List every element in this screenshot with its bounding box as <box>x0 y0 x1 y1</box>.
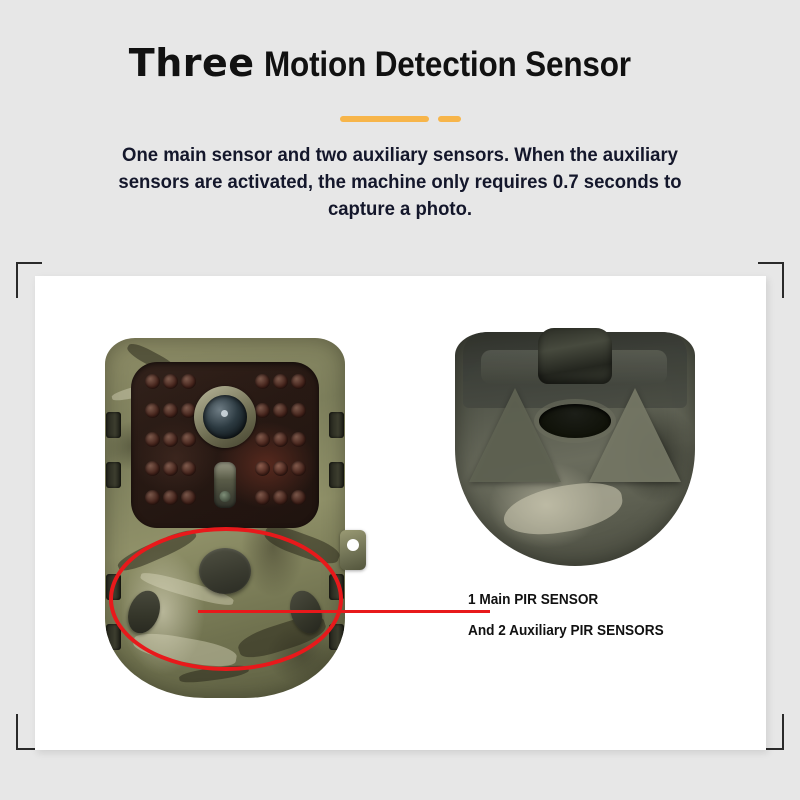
page-title-lead-word: Three <box>129 41 255 85</box>
side-latch <box>106 412 121 438</box>
ir-led-icon <box>255 403 270 418</box>
ir-led-icon <box>145 374 160 389</box>
callout-auxiliary-sensors: And 2 Auxiliary PIR SENSORS <box>468 623 676 639</box>
subtitle-line-2: sensors are activated, the machine only … <box>68 169 733 196</box>
side-latch <box>106 624 121 650</box>
infrared-led-array-right <box>251 370 309 520</box>
ir-led-icon <box>255 461 270 476</box>
ir-led-icon <box>291 490 306 505</box>
camera-body <box>105 338 345 698</box>
subtitle: One main sensor and two auxiliary sensor… <box>50 142 750 223</box>
camo-stroke <box>262 521 343 568</box>
ir-led-icon <box>181 490 196 505</box>
ir-led-icon <box>145 490 160 505</box>
divider-bar-long-icon <box>340 116 429 122</box>
camo-stroke <box>179 663 250 685</box>
camera-front-panel <box>131 362 319 528</box>
ir-led-icon <box>145 432 160 447</box>
callout-main-sensor-label: 1 Main PIR SENSOR <box>468 592 598 608</box>
lens-glass <box>203 395 247 439</box>
auxiliary-pir-sensor-left <box>122 586 165 638</box>
camera-product-image <box>95 334 360 704</box>
auxiliary-sensor-wedge-left <box>469 388 561 482</box>
camera-lens <box>194 386 256 448</box>
main-pir-sensor <box>199 548 251 594</box>
pir-sensor-closeup-image <box>425 306 725 596</box>
ir-led-icon <box>273 490 288 505</box>
infographic-slide: ThreeMotion Detection Sensor One main se… <box>0 0 800 800</box>
ir-led-icon <box>255 490 270 505</box>
ir-led-icon <box>181 432 196 447</box>
ir-led-icon <box>255 432 270 447</box>
ir-led-icon <box>273 461 288 476</box>
ir-led-icon <box>291 432 306 447</box>
ir-led-icon <box>273 432 288 447</box>
subtitle-line-3: capture a photo. <box>68 196 733 223</box>
side-latch <box>329 624 344 650</box>
callout-auxiliary-sensors-label: And 2 Auxiliary PIR SENSORS <box>468 623 664 639</box>
side-latch <box>329 412 344 438</box>
ir-led-icon <box>163 432 178 447</box>
camo-stroke <box>115 526 199 576</box>
ir-led-icon <box>163 403 178 418</box>
subtitle-line-1: One main sensor and two auxiliary sensor… <box>68 142 733 169</box>
main-pir-lens <box>539 404 611 438</box>
camo-stroke <box>132 629 239 671</box>
side-latch <box>329 462 344 488</box>
ir-led-icon <box>291 374 306 389</box>
ir-led-icon <box>181 461 196 476</box>
photo-panel <box>35 276 766 750</box>
side-latch <box>106 574 121 600</box>
ir-led-icon <box>255 374 270 389</box>
side-latch <box>106 462 121 488</box>
ir-led-icon <box>163 374 178 389</box>
sensor-dome <box>538 328 612 384</box>
ir-led-icon <box>291 461 306 476</box>
title-divider <box>0 116 800 122</box>
infrared-led-array-left <box>141 370 199 520</box>
red-pointer-line <box>198 610 490 613</box>
ir-led-icon <box>163 490 178 505</box>
auxiliary-sensor-wedge-right <box>589 388 681 482</box>
camo-leaf-pattern <box>500 478 625 540</box>
callout-main-sensor: 1 Main PIR SENSOR <box>468 592 607 608</box>
camera-mount-tab <box>340 530 366 570</box>
ir-led-icon <box>291 403 306 418</box>
ir-led-icon <box>273 374 288 389</box>
ir-led-icon <box>273 403 288 418</box>
divider-bar-short-icon <box>438 116 461 122</box>
side-latch <box>329 574 344 600</box>
page-title-rest: Motion Detection Sensor <box>264 47 631 82</box>
ir-led-icon <box>163 461 178 476</box>
page-title: ThreeMotion Detection Sensor <box>0 44 800 82</box>
front-sensor-window <box>214 462 236 508</box>
ir-led-icon <box>145 403 160 418</box>
ir-led-icon <box>145 461 160 476</box>
ir-led-icon <box>181 374 196 389</box>
